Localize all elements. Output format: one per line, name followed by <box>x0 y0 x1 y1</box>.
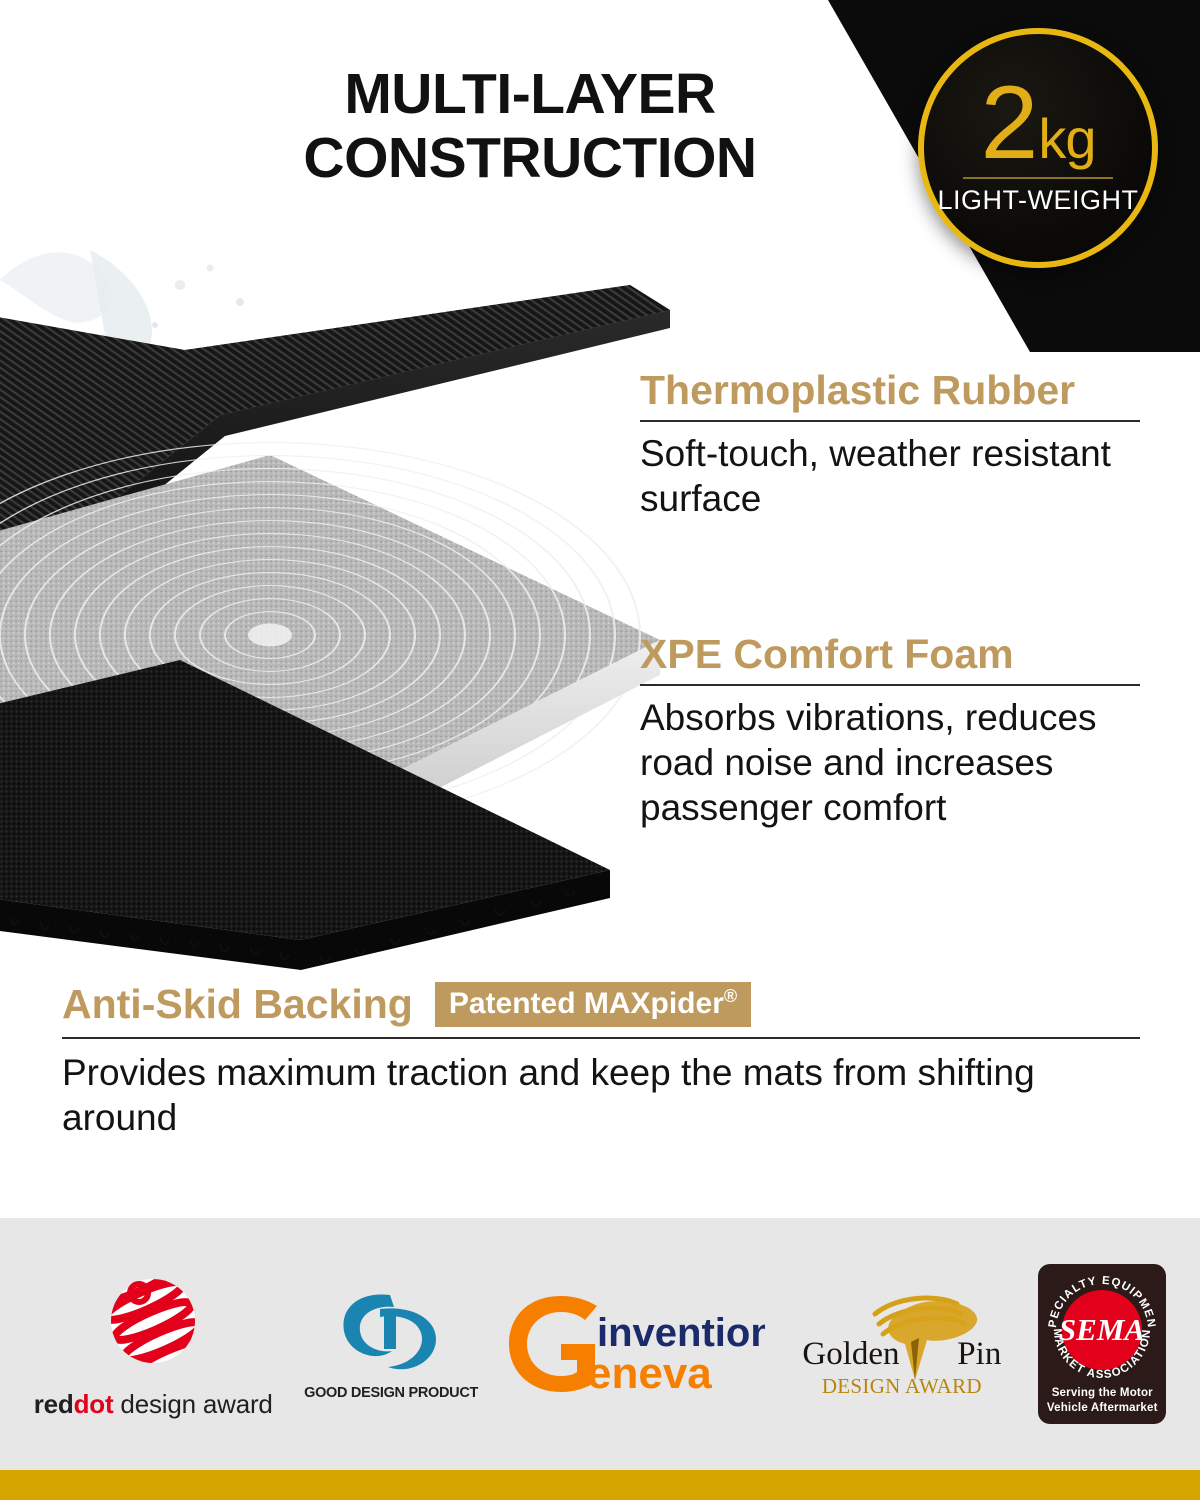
feature-heading-row: Anti-Skid Backing Patented MAXpider® <box>62 982 1140 1027</box>
weight-badge-value: 2 kg <box>981 74 1096 173</box>
weight-badge-divider <box>963 177 1113 179</box>
awards-row: reddot design award GOOD DESIGN PRODUCT … <box>0 1218 1200 1470</box>
registered-trademark-icon: ® <box>724 986 737 1006</box>
reddot-word-dot: dot <box>74 1389 114 1419</box>
pin-word: Pin <box>957 1336 1001 1372</box>
sema-caption: Serving the Motor Vehicle Aftermarket <box>1038 1386 1166 1415</box>
feature-anti-skid-backing: Anti-Skid Backing Patented MAXpider® Pro… <box>62 982 1140 1140</box>
feature-divider <box>62 1037 1140 1039</box>
weight-badge-number: 2 <box>981 74 1038 173</box>
bottom-gold-bar <box>0 1470 1200 1500</box>
good-design-monogram-icon <box>332 1287 450 1379</box>
svg-text:SEMA: SEMA <box>1059 1312 1145 1347</box>
feature-body: Absorbs vibrations, reduces road noise a… <box>640 695 1150 830</box>
reddot-word-red: red <box>34 1389 74 1419</box>
award-golden-pin: Golden Pin DESIGN AWARD <box>797 1288 1007 1400</box>
sema-logo: SPECIALTY EQUIPMENT MARKET ASSOCIATION S… <box>1038 1264 1166 1424</box>
product-exploded-illustration <box>0 250 670 980</box>
award-good-design: GOOD DESIGN PRODUCT <box>304 1287 478 1401</box>
feature-thermoplastic-rubber: Thermoplastic Rubber Soft-touch, weather… <box>640 368 1148 521</box>
awards-footer: reddot design award GOOD DESIGN PRODUCT … <box>0 1218 1200 1470</box>
golden-word: Golden <box>802 1336 899 1372</box>
page-title-line1: MULTI-LAYER <box>190 62 870 126</box>
award-reddot: reddot design award <box>34 1269 273 1420</box>
feature-divider <box>640 684 1140 686</box>
weight-badge-caption: LIGHT-WEIGHT <box>938 185 1139 216</box>
geneva-word: eneva <box>587 1349 712 1396</box>
reddot-word-rest: design award <box>113 1389 272 1419</box>
patented-maxpider-badge: Patented MAXpider® <box>435 982 751 1027</box>
award-sema: SPECIALTY EQUIPMENT MARKET ASSOCIATION S… <box>1038 1264 1166 1424</box>
inventions-geneva-logo: inventions eneva <box>509 1292 765 1396</box>
sema-caption-line1: Serving the Motor <box>1038 1386 1166 1400</box>
feature-xpe-comfort-foam: XPE Comfort Foam Absorbs vibrations, red… <box>640 632 1150 830</box>
weight-badge-unit: kg <box>1038 112 1095 165</box>
infographic-page: MULTI-LAYER CONSTRUCTION 2 kg LIGHT-WEIG… <box>0 0 1200 1500</box>
award-inventions-geneva: inventions eneva <box>509 1292 765 1396</box>
reddot-sphere-icon <box>97 1269 209 1381</box>
golden-pin-caption: DESIGN AWARD <box>797 1374 1007 1399</box>
good-design-caption: GOOD DESIGN PRODUCT <box>304 1385 478 1401</box>
reddot-wordmark: reddot design award <box>34 1389 273 1420</box>
feature-title: XPE Comfort Foam <box>640 632 1150 677</box>
weight-badge: 2 kg LIGHT-WEIGHT <box>918 28 1158 268</box>
feature-body: Soft-touch, weather resistant surface <box>640 431 1148 521</box>
page-title-line2: CONSTRUCTION <box>190 126 870 190</box>
feature-divider <box>640 420 1140 422</box>
feature-title: Thermoplastic Rubber <box>640 368 1148 413</box>
patented-maxpider-label: Patented MAXpider <box>449 987 724 1020</box>
sema-seal-icon: SPECIALTY EQUIPMENT MARKET ASSOCIATION S… <box>1038 1266 1166 1394</box>
page-title: MULTI-LAYER CONSTRUCTION <box>190 62 870 191</box>
golden-pin-wordmark: Golden Pin <box>797 1336 1007 1373</box>
sema-caption-line2: Vehicle Aftermarket <box>1038 1401 1166 1415</box>
feature-body: Provides maximum traction and keep the m… <box>62 1050 1140 1140</box>
feature-title: Anti-Skid Backing <box>62 982 413 1027</box>
